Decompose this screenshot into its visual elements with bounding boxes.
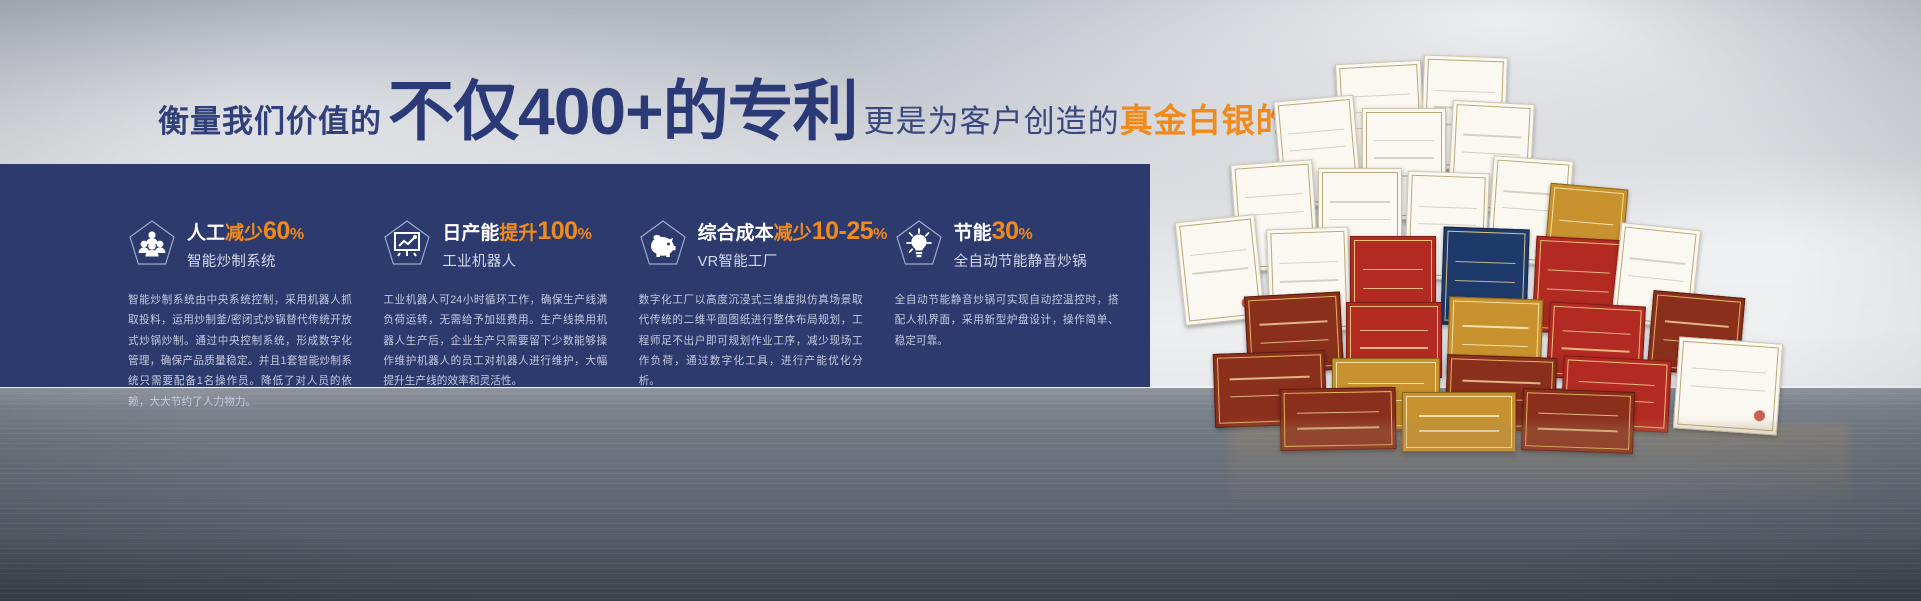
- feature-title-unit-3: %: [873, 226, 887, 243]
- feature-title-prefix-3: 综合成本: [698, 223, 774, 244]
- feature-item-3: 综合成本减少10-25% VR智能工厂 数字化工厂以高度沉浸式三维虚拟仿真场景取…: [639, 218, 887, 387]
- feature-text-2: 日产能提升100% 工业机器人: [442, 217, 591, 272]
- lightbulb-icon: [895, 219, 943, 269]
- feature-body-1: 智能炒制系统由中央系统控制，采用机器人抓取投料，运用炒制釜/密闭式炒锅替代传统开…: [128, 290, 352, 412]
- feature-header-4: 节能30% 全自动节能静音炒锅: [895, 218, 1142, 270]
- feature-title-unit-1: %: [290, 226, 304, 243]
- feature-title-highlight-1: 减少: [225, 223, 263, 244]
- feature-title-prefix-4: 节能: [954, 223, 992, 244]
- feature-header-3: 综合成本减少10-25% VR智能工厂: [639, 218, 887, 270]
- feature-title-highlight-3: 减少: [774, 223, 812, 244]
- feature-title-unit-4: %: [1018, 226, 1032, 243]
- feature-title-3: 综合成本减少10-25%: [698, 217, 888, 246]
- feature-title-number-2: 100: [537, 217, 577, 245]
- headline-emphasis: 不仅400+的专利: [388, 81, 858, 142]
- people-group-icon: [128, 219, 176, 269]
- feature-subtitle-2: 工业机器人: [442, 250, 591, 271]
- feature-title-highlight-2: 提升: [499, 223, 537, 244]
- feature-title-4: 节能30%: [954, 217, 1087, 246]
- feature-title-number-4: 30: [992, 217, 1019, 245]
- feature-text-4: 节能30% 全自动节能静音炒锅: [954, 217, 1087, 272]
- feature-title-unit-2: %: [578, 226, 592, 243]
- feature-item-1: 人工减少60% 智能炒制系统 智能炒制系统由中央系统控制，采用机器人抓取投料，运…: [128, 218, 375, 387]
- feature-body-3: 数字化工厂以高度沉浸式三维虚拟仿真场景取代传统的二维平面图纸进行整体布局规划，工…: [639, 290, 863, 392]
- feature-item-4: 节能30% 全自动节能静音炒锅 全自动节能静音炒锅可实现自动控温控时，搭配人机界…: [895, 218, 1142, 387]
- feature-subtitle-1: 智能炒制系统: [187, 250, 304, 271]
- features-columns: 人工减少60% 智能炒制系统 智能炒制系统由中央系统控制，采用机器人抓取投料，运…: [0, 164, 1150, 387]
- feature-subtitle-4: 全自动节能静音炒锅: [954, 250, 1087, 271]
- feature-text-1: 人工减少60% 智能炒制系统: [187, 217, 304, 272]
- feature-title-prefix-1: 人工: [187, 223, 225, 244]
- feature-header-2: 日产能提升100% 工业机器人: [383, 218, 630, 270]
- chart-board-icon: [383, 219, 431, 269]
- headline-lead: 衡量我们价值的: [158, 106, 382, 137]
- feature-title-number-1: 60: [263, 217, 290, 245]
- feature-title-number-3: 10-25: [812, 217, 873, 245]
- feature-subtitle-3: VR智能工厂: [698, 250, 888, 271]
- feature-title-2: 日产能提升100%: [442, 217, 591, 246]
- feature-title-prefix-2: 日产能: [442, 223, 499, 244]
- feature-header-1: 人工减少60% 智能炒制系统: [128, 218, 375, 270]
- feature-item-2: 日产能提升100% 工业机器人 工业机器人可24小时循环工作，确保生产线满负荷运…: [383, 218, 630, 387]
- feature-title-1: 人工减少60%: [187, 217, 304, 246]
- certificate-item: [1673, 336, 1783, 435]
- feature-body-2: 工业机器人可24小时循环工作，确保生产线满负荷运转，无需给予加班费用。生产线换用…: [383, 290, 607, 392]
- pile-reflection: [1230, 424, 1850, 510]
- feature-body-4: 全自动节能静音炒锅可实现自动控温控时，搭配人机界面，采用新型炉盘设计，操作简单、…: [895, 290, 1119, 351]
- piggy-bank-icon: [639, 219, 687, 269]
- headline-mid: 更是为客户创造的: [864, 106, 1120, 137]
- feature-text-3: 综合成本减少10-25% VR智能工厂: [698, 217, 888, 272]
